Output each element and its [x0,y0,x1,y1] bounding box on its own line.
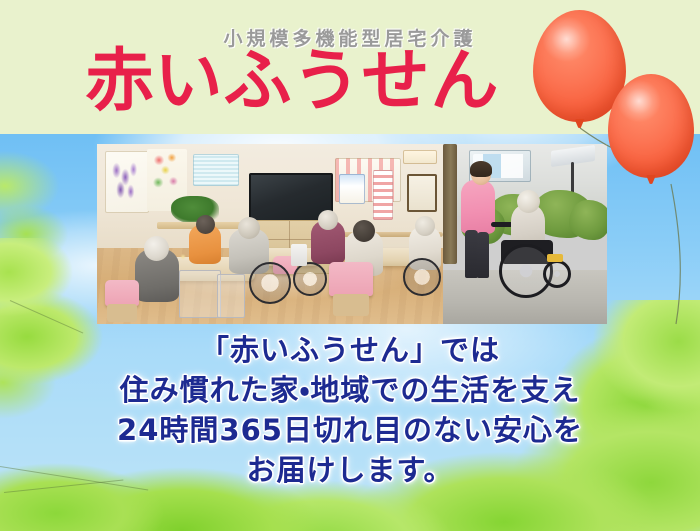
caregiver-figure [461,180,495,234]
resident-head [196,215,215,234]
door-sign [403,150,437,164]
walker-frame [217,274,245,318]
wheelchair-footrest [547,254,563,262]
shelter-pole [571,162,574,194]
wall-chart [373,170,393,220]
photo-strip [97,144,607,324]
message-line-1: 「赤いふうせん」では [0,330,700,370]
chair-legs [333,294,369,316]
wall-art-wisteria-detail [109,158,143,206]
balloon-icon [608,74,694,178]
message-line-4: お届けします。 [0,450,700,490]
framed-picture [407,174,437,212]
promo-banner: 小規模多機能型居宅介護 赤いふうせん [0,0,700,531]
wheelchair-handle [491,222,513,227]
caregiver-hair [470,161,492,177]
wheelchair-wheel [249,262,291,304]
caregiver-legs [477,232,489,278]
entrance-post [443,144,457,264]
message-line-2: 住み慣れた家・地域での生活を支え [0,370,700,410]
hedge-shrub [569,200,607,240]
message-line-3: 24時間365日切れ目のない安心を [0,410,700,450]
mission-statement: 「赤いふうせん」では 住み慣れた家・地域での生活を支え 24時間365日切れ目の… [0,330,700,490]
window-blind [193,154,239,186]
calendar-poster [339,174,365,204]
waste-bin [291,244,307,266]
walker-frame [179,270,221,318]
chair-legs [107,304,137,322]
wheelchair-wheel [293,262,327,296]
chair [329,262,373,296]
resident-head [318,210,338,230]
outdoor-walk-photo [443,144,607,324]
resident-head [415,216,435,236]
resident-head [238,217,260,239]
resident-head [517,190,540,213]
resident-head [353,220,375,242]
chair [105,280,139,306]
resident-head [144,236,169,261]
day-room-photo [97,144,443,324]
wheelchair-wheel [543,260,571,288]
wheelchair-wheel [403,258,441,296]
